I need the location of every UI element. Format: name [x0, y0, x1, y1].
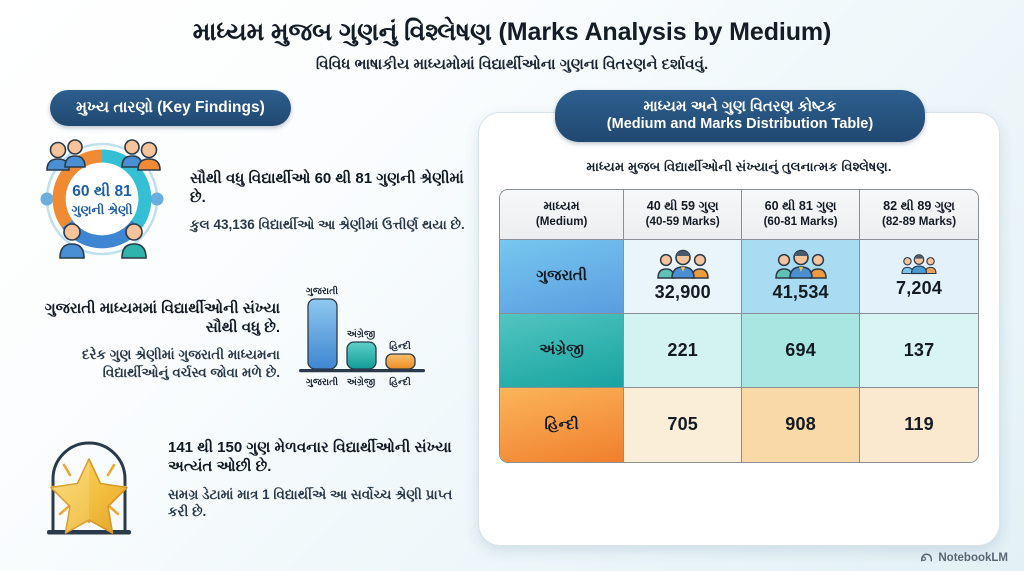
cell-value: 221 [667, 340, 698, 360]
finding-2: ગુજરાતી માધ્યમમાં વિદ્યાર્થીઓની સંખ્યા સ… [14, 276, 470, 403]
cell-gujarati-82-89: 7,204 [860, 240, 978, 314]
table-body: ગુજરાતી [500, 240, 978, 462]
cell-hindi-40-59: 705 [624, 388, 742, 462]
mini-bar-chart-art: ગુજરાતી અંગ્રેજી હિન્દી ગુજરાતી અંગ્રેજી… [290, 276, 440, 403]
key-findings-badge: મુખ્ય તારણો (Key Findings) [50, 90, 291, 127]
cell-english-60-81: 694 [742, 314, 860, 388]
bar-chart-icon: ગુજરાતી અંગ્રેજી હિન્દી ગુજરાતી અંગ્રેજી… [290, 276, 436, 398]
col-header-range-1-en: (40-59 Marks) [628, 215, 737, 229]
finding-1: 60 થી 81 ગુણની શ્રેણી સૌથી વધુ વિદ્યાર્થ… [14, 136, 470, 262]
cell-value: 119 [904, 414, 934, 434]
row-label-english: અંગ્રેજી [500, 314, 624, 388]
donut-value-line1: 60 થી 81 [72, 181, 132, 200]
table-column: માધ્યમ અને ગુણ વિતરણ કોષ્ટક (Medium and … [470, 90, 1010, 554]
cell-english-82-89: 137 [860, 314, 978, 388]
table-header-row: માધ્યમ (Medium) 40 થી 59 ગુણ (40-59 Mark… [500, 190, 978, 240]
finding-3: 141 થી 150 ગુણ મેળવનાર વિદ્યાર્થીઓની સંખ… [14, 421, 470, 537]
cell-value: 32,900 [655, 282, 711, 302]
row-label-text: ગુજરાતી [536, 267, 587, 284]
cell-value: 694 [785, 340, 816, 360]
cell-value: 705 [667, 414, 698, 434]
page-subtitle: વિવિધ ભાષાકીય માધ્યમોમાં વિદ્યાર્થીઓના ગ… [0, 56, 1024, 74]
table-title-en: (Medium and Marks Distribution Table) [589, 116, 891, 134]
bar-axis-label-0: ગુજરાતી [306, 375, 338, 388]
col-header-range-3: 82 થી 89 ગુણ (82-89 Marks) [860, 190, 978, 240]
col-header-range-1-gu: 40 થી 59 ગુણ [647, 199, 719, 213]
watermark-label: NotebookLM [938, 552, 1008, 564]
table-panel: માધ્યમ મુજબ વિદ્યાર્થીઓની સંખ્યાનું તુલન… [478, 112, 1000, 546]
cell-english-40-59: 221 [624, 314, 742, 388]
table-head: માધ્યમ (Medium) 40 થી 59 ગુણ (40-59 Mark… [500, 190, 978, 240]
col-header-range-1: 40 થી 59 ગુણ (40-59 Marks) [624, 190, 742, 240]
cell-value: 41,534 [772, 282, 828, 302]
bar-top-label-0: ગુજરાતી [306, 284, 338, 297]
col-header-range-2-en: (60-81 Marks) [746, 215, 855, 229]
cell-hindi-60-81: 908 [742, 388, 860, 462]
bar-top-label-1: અંગ્રેજી [347, 326, 376, 340]
col-header-range-3-gu: 82 થી 89 ગુણ [883, 199, 955, 213]
cell-value: 908 [785, 414, 816, 434]
marks-distribution-table: માધ્યમ (Medium) 40 થી 59 ગુણ (40-59 Mark… [499, 189, 979, 463]
col-header-medium: માધ્યમ (Medium) [500, 190, 624, 240]
table-title-badge: માધ્યમ અને ગુણ વિતરણ કોષ્ટક (Medium and … [555, 90, 925, 143]
row-label-text: અંગ્રેજી [539, 341, 584, 358]
page-header: માધ્યમ મુજબ ગુણનું વિશ્લેષણ (Marks Analy… [0, 0, 1024, 74]
people-group-icon [655, 249, 711, 279]
finding-3-heading: 141 થી 150 ગુણ મેળવનાર વિદ્યાર્થીઓની સંખ… [168, 438, 470, 476]
page-title: માધ્યમ મુજબ ગુણનું વિશ્લેષણ (Marks Analy… [0, 18, 1024, 48]
table-caption: માધ્યમ મુજબ વિદ્યાર્થીઓની સંખ્યાનું તુલન… [499, 159, 979, 175]
col-header-range-3-en: (82-89 Marks) [864, 215, 974, 229]
table-row: ગુજરાતી [500, 240, 978, 314]
donut-chart-icon: 60 થી 81 ગુણની શ્રેણી [16, 136, 188, 262]
donut-chart-art: 60 થી 81 ગુણની શ્રેણી [14, 136, 190, 262]
table-row: અંગ્રેજી 221 694 137 [500, 314, 978, 388]
finding-2-sub: દરેક ગુણ શ્રેણીમાં ગુજરાતી માધ્યમના વિદ્… [14, 346, 280, 381]
bar-axis-label-2: હિન્દી [389, 375, 411, 388]
row-label-gujarati: ગુજરાતી [500, 240, 624, 314]
people-icon-top-left [47, 140, 85, 170]
donut-value-line2: ગુણની શ્રેણી [71, 201, 132, 218]
key-findings-column: મુખ્ય તારણો (Key Findings) [14, 90, 470, 554]
star-award-icon [23, 421, 155, 537]
col-header-range-2: 60 થી 81 ગુણ (60-81 Marks) [742, 190, 860, 240]
bar-top-label-2: હિન્દી [389, 339, 411, 352]
content-area: મુખ્ય તારણો (Key Findings) [0, 74, 1024, 554]
finding-1-heading: સૌથી વધુ વિદ્યાર્થીઓ 60 થી 81 ગુણની શ્રે… [190, 169, 470, 207]
cell-value: 7,204 [896, 278, 942, 298]
finding-2-heading: ગુજરાતી માધ્યમમાં વિદ્યાર્થીઓની સંખ્યા સ… [14, 299, 280, 337]
cell-gujarati-40-59: 32,900 [624, 240, 742, 314]
row-label-text: હિન્દી [545, 416, 579, 433]
finding-1-text: સૌથી વધુ વિદ્યાર્થીઓ 60 થી 81 ગુણની શ્રે… [190, 165, 470, 234]
watermark: NotebookLM [920, 551, 1008, 564]
cell-value: 137 [904, 340, 935, 360]
people-group-icon [773, 249, 829, 279]
cell-gujarati-60-81: 41,534 [742, 240, 860, 314]
star-award-art [14, 421, 164, 537]
finding-3-sub: સમગ્ર ડેટામાં માત્ર 1 વિદ્યાર્થીએ આ સર્વ… [168, 486, 470, 521]
people-icon-top-right [122, 140, 160, 170]
cell-hindi-82-89: 119 [860, 388, 978, 462]
row-label-hindi: હિન્દી [500, 388, 624, 462]
finding-3-text: 141 થી 150 ગુણ મેળવનાર વિદ્યાર્થીઓની સંખ… [164, 438, 470, 520]
col-header-range-2-gu: 60 થી 81 ગુણ [765, 199, 837, 213]
table-row: હિન્દી 705 908 119 [500, 388, 978, 462]
bar-axis-label-1: અંગ્રેજી [347, 374, 376, 388]
finding-1-sub: કુલ 43,136 વિદ્યાર્થીઓ આ શ્રેણીમાં ઉત્તી… [190, 216, 470, 234]
notebooklm-logo-icon [920, 551, 933, 564]
col-header-medium-en: (Medium) [504, 215, 619, 229]
people-group-icon-small [900, 253, 938, 275]
finding-2-text: ગુજરાતી માધ્યમમાં વિદ્યાર્થીઓની સંખ્યા સ… [14, 299, 290, 381]
col-header-medium-gu: માધ્યમ [544, 199, 580, 213]
table-title-gu: માધ્યમ અને ગુણ વિતરણ કોષ્ટક [589, 98, 891, 116]
